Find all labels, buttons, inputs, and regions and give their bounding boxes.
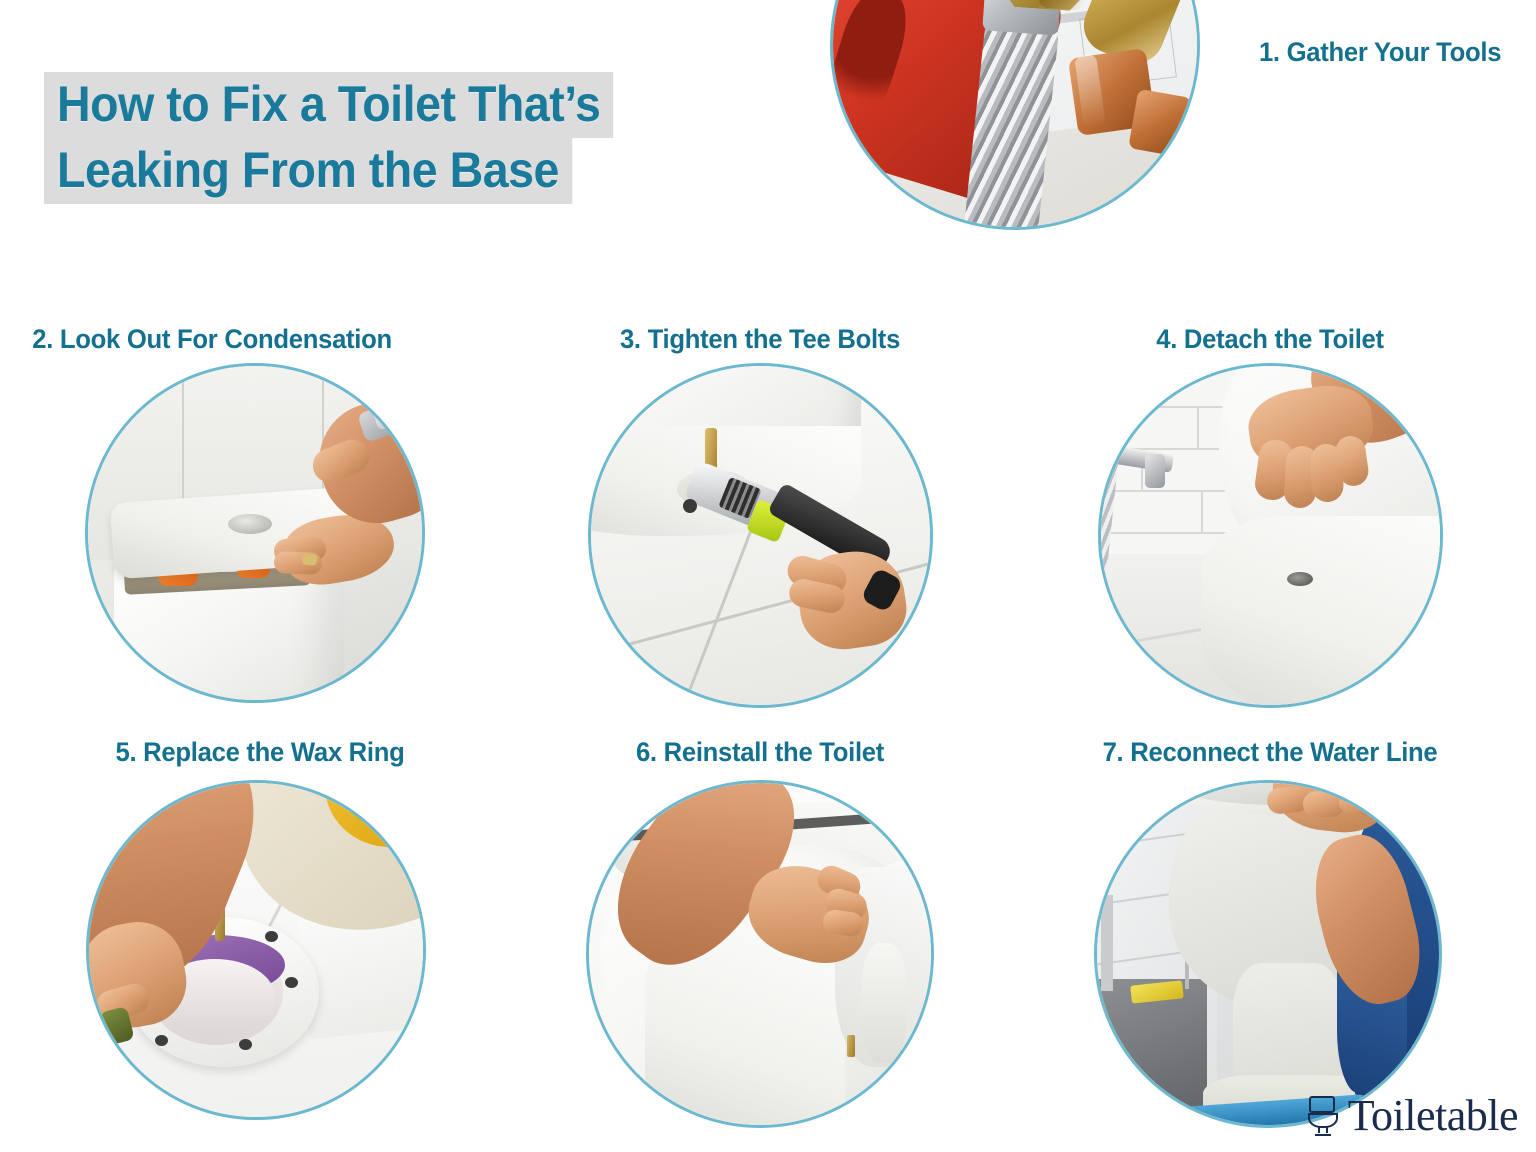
- step-1-title: 1. Gather Your Tools: [1093, 38, 1502, 68]
- step-2-image: [85, 363, 425, 703]
- step-5: 5. Replace the Wax Ring: [10, 738, 510, 1148]
- step-4: 4. Detach the Toilet: [1020, 325, 1520, 725]
- step-1-image: [830, 0, 1200, 230]
- step-5-image: [86, 780, 426, 1120]
- step-3: 3. Tighten the Tee Bolts: [520, 325, 1000, 725]
- step-4-title: 4. Detach the Toilet: [1033, 325, 1508, 355]
- step-5-title: 5. Replace the Wax Ring: [23, 738, 498, 768]
- step-2: 2. Look Out For Condensation: [10, 325, 510, 725]
- brand-logo: Toiletable: [1306, 1094, 1518, 1138]
- step-3-title: 3. Tighten the Tee Bolts: [532, 325, 988, 355]
- step-7: 7. Reconnect the Water Line: [1010, 738, 1530, 1148]
- brand-name: Toiletable: [1348, 1094, 1518, 1138]
- step-7-image: [1094, 780, 1442, 1128]
- page-title: How to Fix a Toilet That’s Leaking From …: [44, 72, 804, 204]
- step-7-title: 7. Reconnect the Water Line: [1023, 738, 1517, 768]
- step-4-image: [1098, 363, 1443, 708]
- step-6: 6. Reinstall the Toilet: [520, 738, 1000, 1148]
- page-title-line-2: Leaking From the Base: [44, 138, 572, 204]
- step-1: 1. Gather Your Tools: [830, 0, 1536, 310]
- page-title-line-1: How to Fix a Toilet That’s: [44, 72, 613, 138]
- step-6-image: [586, 780, 934, 1128]
- toilet-icon: [1306, 1094, 1340, 1138]
- infographic-page: How to Fix a Toilet That’s Leaking From …: [0, 0, 1536, 1152]
- step-2-title: 2. Look Out For Condensation: [32, 325, 498, 355]
- step-6-title: 6. Reinstall the Toilet: [532, 738, 988, 768]
- step-3-image: [588, 363, 933, 708]
